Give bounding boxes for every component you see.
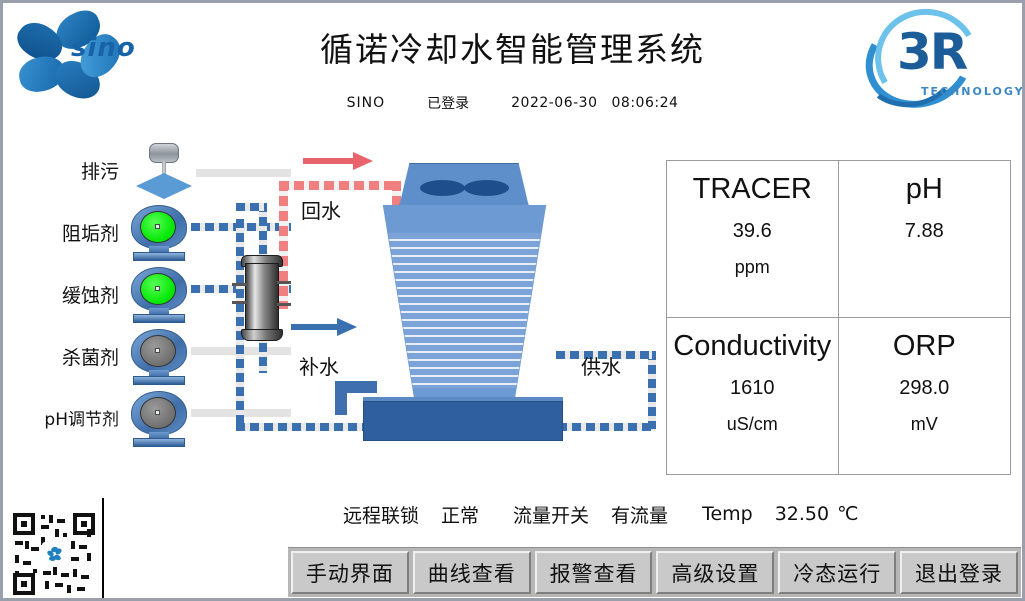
flow-switch-label: 流量开关: [513, 501, 589, 528]
equipment-label-antiscalant: 阻垢剂: [11, 219, 119, 246]
measurement-cell-conductivity[interactable]: Conductivity 1610 uS/cm: [667, 318, 839, 475]
login-status: 已登录: [427, 93, 469, 113]
measurement-value: 298.0: [899, 377, 949, 400]
trend-curve-button[interactable]: 曲线查看: [413, 551, 531, 594]
current-user: SINO: [347, 95, 386, 111]
temp-label: Temp: [702, 503, 753, 525]
cold-start-button[interactable]: 冷态运行: [778, 551, 896, 594]
footer-divider: [102, 498, 104, 601]
date-text: 2022-06-30: [511, 95, 597, 111]
status-remote-interlock: 远程联锁 正常: [343, 501, 479, 528]
measurement-name: Conductivity: [673, 330, 831, 363]
time-text: 08:06:24: [612, 95, 679, 111]
3r-technology-logo: 3R TECHNOLOGY: [859, 5, 1014, 117]
remote-interlock-value: 正常: [441, 501, 479, 528]
header: sino 循诺冷却水智能管理系统 SINO 已登录 2022-06-30 08:…: [3, 3, 1022, 128]
datetime: 2022-06-30 08:06:24: [511, 95, 678, 111]
measurement-unit: uS/cm: [727, 414, 778, 435]
status-temperature: Temp 32.50 ℃: [702, 503, 858, 525]
logout-button[interactable]: 退出登录: [900, 551, 1018, 594]
exchanger-top-pipe: [236, 203, 266, 211]
measurement-unit: ppm: [735, 257, 770, 278]
temp-unit: ℃: [837, 503, 858, 525]
measurement-unit: mV: [911, 414, 938, 435]
fan-blade-icon: [420, 180, 465, 196]
3r-subtitle: TECHNOLOGY: [921, 85, 1025, 98]
pump-hub: [155, 224, 160, 229]
measurements-panel: TRACER 39.6 ppm pH 7.88 Conductivity 161…: [666, 160, 1011, 475]
system-status-bar: 远程联锁 正常 流量开关 有流量 Temp 32.50 ℃: [343, 497, 1015, 531]
tower-makeup-inlet: [335, 381, 377, 393]
exchanger-bottom-cap: [241, 329, 283, 341]
remote-interlock-label: 远程联锁: [343, 501, 419, 528]
status-flow-switch: 流量开关 有流量: [513, 501, 668, 528]
equipment-label-ph-adjuster: pH调节剂: [11, 405, 119, 430]
equipment-label-biocide: 杀菌剂: [11, 343, 119, 370]
temp-value: 32.50: [775, 503, 829, 525]
measurement-cell-orp[interactable]: ORP 298.0 mV: [839, 318, 1011, 475]
3r-wordmark: 3R: [897, 23, 966, 81]
tower-louvers: [357, 233, 572, 388]
exchanger-nozzle: [232, 283, 248, 286]
pump-hub: [155, 410, 160, 415]
supply-pipe-right-vertical: [648, 351, 656, 429]
heat-exchanger-icon[interactable]: [237, 253, 289, 343]
equipment-label-corrosion-inhibitor: 缓蚀剂: [11, 281, 119, 308]
measurement-cell-ph[interactable]: pH 7.88: [839, 161, 1011, 318]
measurement-value: 1610: [730, 377, 775, 400]
equipment-label-blowdown: 排污: [11, 157, 119, 184]
tower-basin: [363, 401, 563, 441]
fan-blade-icon: [464, 180, 509, 196]
cooling-tower-icon[interactable]: [343, 163, 603, 453]
qr-center-logo: [42, 542, 66, 566]
valve-body-left: [136, 173, 164, 199]
exchanger-nozzle: [277, 281, 291, 284]
qr-finder-pattern: [73, 513, 95, 535]
pump-hub: [155, 286, 160, 291]
makeup-water-label: 补水: [299, 351, 339, 380]
measurement-value: 7.88: [905, 220, 944, 243]
process-flow-diagram: 回水 补水 供水: [173, 143, 663, 483]
measurement-name: TRACER: [693, 173, 812, 206]
flow-switch-value: 有流量: [611, 501, 668, 528]
qr-code[interactable]: [11, 511, 97, 597]
exchanger-shell: [245, 263, 279, 333]
manual-interface-button[interactable]: 手动界面: [291, 551, 409, 594]
qr-finder-pattern: [13, 513, 35, 535]
return-water-label: 回水: [301, 195, 341, 224]
measurement-name: ORP: [893, 330, 956, 363]
measurement-value: 39.6: [733, 220, 772, 243]
tower-fan-housing: [399, 163, 529, 207]
measurement-name: pH: [906, 173, 943, 206]
advanced-settings-button[interactable]: 高级设置: [656, 551, 774, 594]
measurement-cell-tracer[interactable]: TRACER 39.6 ppm: [667, 161, 839, 318]
alarm-view-button[interactable]: 报警查看: [535, 551, 653, 594]
hmi-screen: sino 循诺冷却水智能管理系统 SINO 已登录 2022-06-30 08:…: [0, 0, 1025, 601]
exchanger-nozzle: [232, 301, 248, 304]
navigation-button-bar: 手动界面 曲线查看 报警查看 高级设置 冷态运行 退出登录: [288, 547, 1021, 597]
pump-hub: [155, 348, 160, 353]
exchanger-nozzle: [277, 303, 291, 306]
